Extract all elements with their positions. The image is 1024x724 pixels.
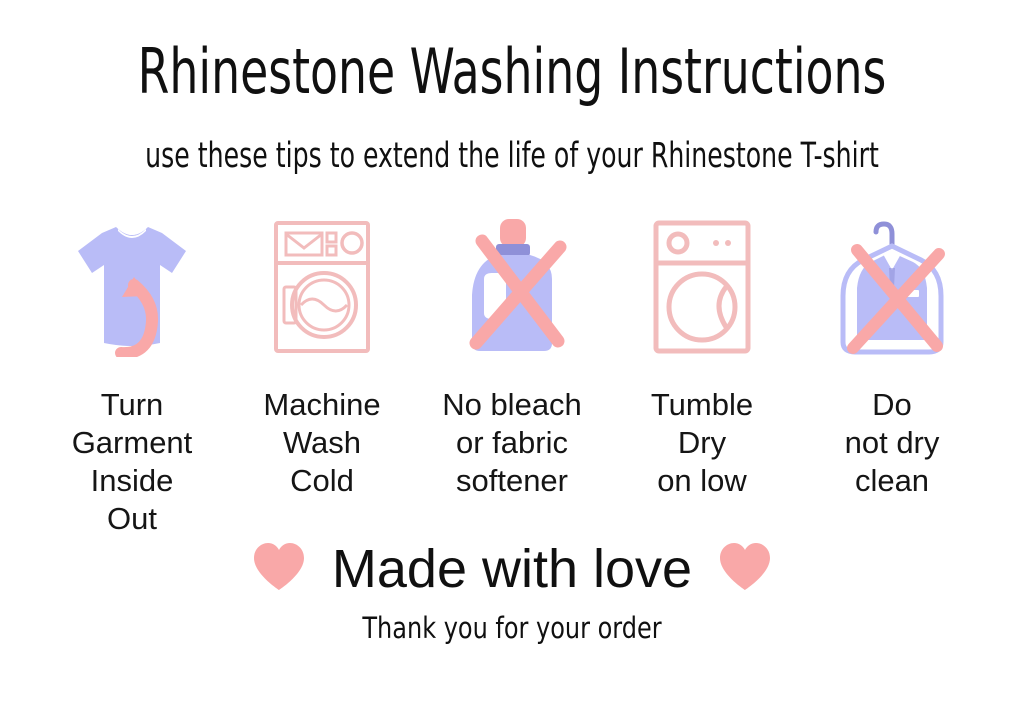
heart-icon	[718, 542, 772, 597]
instruction-icon-row	[44, 212, 980, 362]
made-with-love-text: Made with love	[332, 538, 692, 600]
instruction-label: Tumble Dry on low	[614, 386, 790, 500]
made-with-love-row: Made with love	[0, 538, 1024, 600]
no-dry-clean-icon	[827, 212, 957, 362]
instruction-icon-cell	[44, 212, 220, 362]
instruction-label-row: Turn Garment Inside Out Machine Wash Col…	[44, 386, 980, 538]
instruction-label: No bleach or fabric softener	[424, 386, 600, 500]
page-title: Rhinestone Washing Instructions	[92, 36, 932, 108]
thank-you-text: Thank you for your order	[41, 610, 983, 646]
tshirt-inside-out-icon	[72, 217, 192, 357]
instruction-label: Do not dry clean	[804, 386, 980, 500]
instruction-icon-cell	[614, 212, 790, 362]
instruction-icon-cell	[424, 212, 600, 362]
page-subtitle: use these tips to extend the life of you…	[102, 134, 921, 178]
no-bleach-icon	[452, 217, 572, 357]
tumble-dryer-icon	[650, 217, 754, 357]
instruction-icon-cell	[804, 212, 980, 362]
instruction-icon-cell	[234, 212, 410, 362]
washing-instructions-card: Rhinestone Washing Instructions use thes…	[0, 0, 1024, 724]
instruction-label: Machine Wash Cold	[234, 386, 410, 500]
instruction-label: Turn Garment Inside Out	[44, 386, 220, 538]
heart-icon	[252, 542, 306, 597]
washing-machine-icon	[270, 217, 374, 357]
